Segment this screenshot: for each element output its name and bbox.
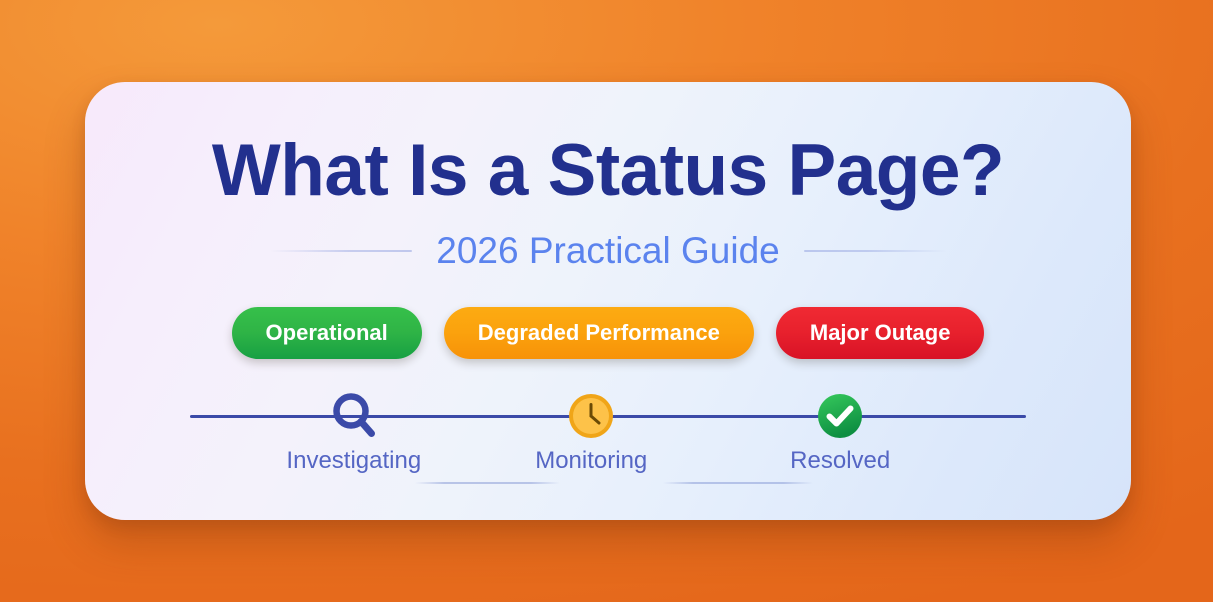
status-page-card: What Is a Status Page? 2026 Practical Gu…	[85, 82, 1131, 520]
timeline-step-resolved[interactable]: Resolved	[740, 385, 940, 473]
timeline-step-monitoring[interactable]: Monitoring	[491, 385, 691, 473]
timeline-link-2	[663, 482, 813, 484]
page-subtitle: 2026 Practical Guide	[436, 232, 779, 269]
subtitle-row: 2026 Practical Guide	[85, 232, 1131, 269]
status-badge-group: Operational Degraded Performance Major O…	[85, 307, 1131, 359]
clock-icon	[491, 385, 691, 447]
timeline-link-1	[415, 482, 560, 484]
status-badge-major-outage[interactable]: Major Outage	[776, 307, 985, 359]
status-badge-operational[interactable]: Operational	[232, 307, 422, 359]
page-title: What Is a Status Page?	[85, 134, 1131, 207]
magnifier-icon	[254, 385, 454, 447]
check-circle-icon	[740, 385, 940, 447]
subtitle-rule-right	[804, 250, 946, 252]
subtitle-rule-left	[270, 250, 412, 252]
timeline-step-investigating[interactable]: Investigating	[254, 385, 454, 473]
timeline-step-label: Investigating	[254, 449, 454, 473]
incident-timeline: Investigating Monitoring	[85, 385, 1131, 495]
poster-canvas: What Is a Status Page? 2026 Practical Gu…	[0, 0, 1213, 602]
timeline-step-label: Monitoring	[491, 449, 691, 473]
timeline-step-label: Resolved	[740, 449, 940, 473]
status-badge-degraded-performance[interactable]: Degraded Performance	[444, 307, 754, 359]
